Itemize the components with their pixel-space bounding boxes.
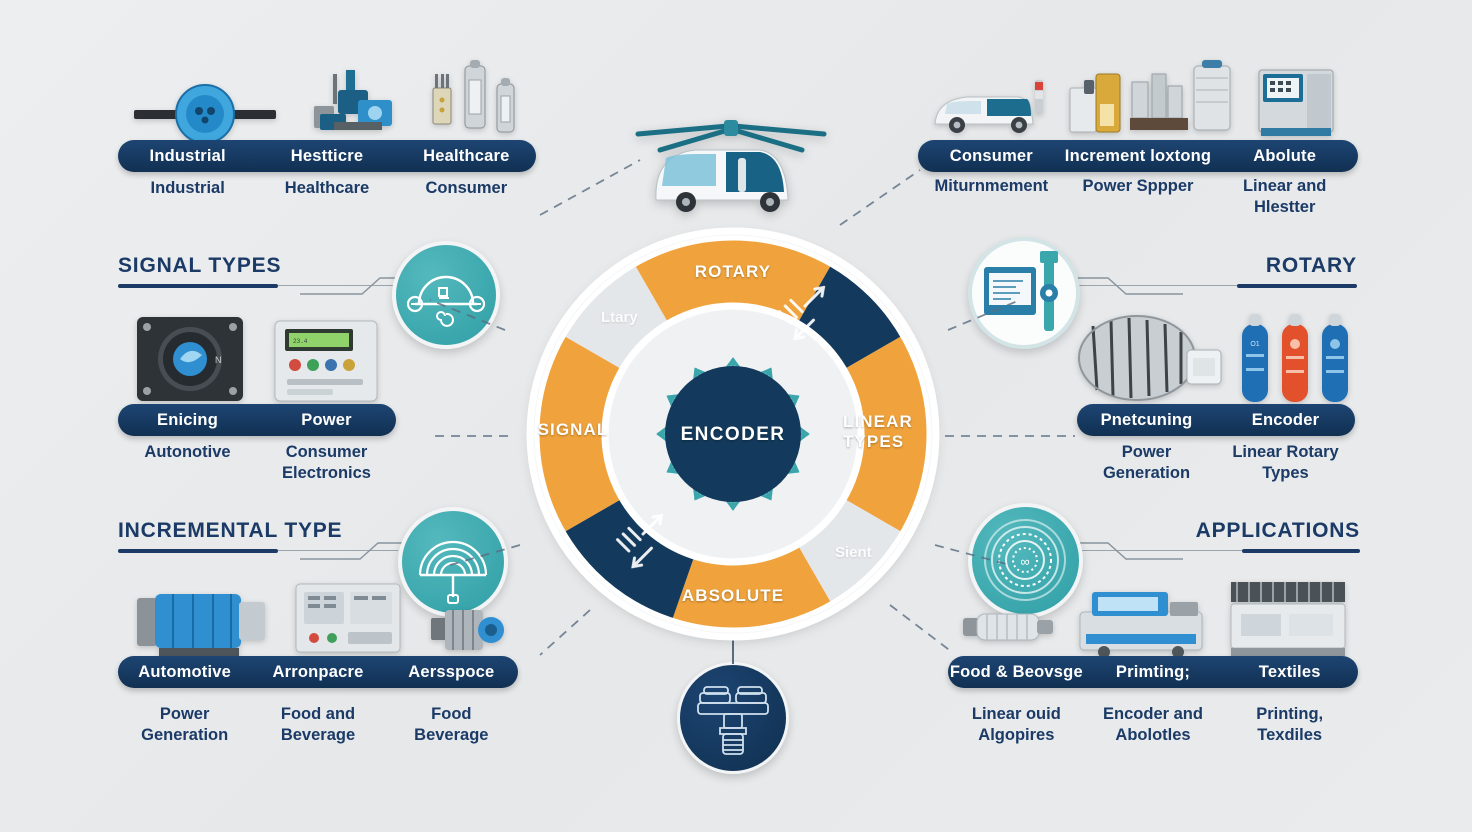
top-left-photo-strip	[120, 52, 535, 144]
pill-label: Power	[257, 411, 396, 430]
pill-label: Pnetcuning	[1077, 411, 1216, 430]
bottom-left-photo-strip	[120, 570, 520, 660]
header-applications: APPLICATIONS	[1196, 519, 1360, 543]
caption: Encoder and Abolotles	[1085, 704, 1222, 747]
bottom-left-captions: Power Generation Food and Beverage Food …	[118, 704, 518, 747]
top-left-pill: Industrial Hestticre Healthcare	[118, 140, 536, 172]
control-cabinet-photo	[1247, 60, 1347, 144]
pill-label: Enicing	[118, 411, 257, 430]
mid-left-captions: Autonotive Consumer Electronics	[118, 442, 396, 485]
mid-right-captions: Power Generation Linear Rotary Types	[1077, 442, 1355, 485]
top-left-captions: Industrial Healthcare Consumer	[118, 178, 536, 199]
bottom-left-pill: Automotive Arronpacre Aersspoce	[118, 656, 518, 688]
svg-text:N: N	[215, 355, 222, 365]
machine-cabinet-photo	[292, 576, 404, 660]
svg-text:23.4: 23.4	[293, 338, 308, 345]
svg-text:∞: ∞	[1020, 554, 1029, 569]
infographic-canvas: Industrial Hestticre Healthcare Industri…	[0, 0, 1472, 832]
industrial-pump-photo	[300, 62, 405, 144]
mid-right-pill: Pnetcuning Encoder	[1077, 404, 1355, 436]
turbine-engine-photo	[1075, 310, 1225, 406]
pill-label: Increment loxtong	[1065, 147, 1212, 166]
pill-label: Food & Beovsge	[948, 663, 1085, 682]
pill-label: Healthcare	[397, 147, 536, 166]
pill-label: Encoder	[1216, 411, 1355, 430]
encoder-sensor-icon	[677, 662, 789, 774]
process-tanks-photo	[1066, 58, 1236, 144]
signal-waveform-icon	[392, 241, 500, 349]
printing-press-photo	[1070, 578, 1210, 660]
bottom-right-pill: Food & Beovsge Primting; Textiles	[948, 656, 1358, 688]
caption: Miturnmement	[918, 176, 1065, 219]
header-rotary: ROTARY	[1266, 254, 1357, 278]
caption: Power Sppper	[1065, 176, 1212, 219]
caption: Consumer Electronics	[257, 442, 396, 485]
pill-label: Aersspoce	[385, 663, 518, 682]
caption: Consumer	[397, 178, 536, 199]
header-label: ROTARY	[1266, 254, 1357, 278]
control-panel-photo: 23.4	[271, 317, 381, 405]
svg-text:O1: O1	[1250, 341, 1259, 348]
applications-connector-line	[1068, 537, 1183, 563]
header-label: SIGNAL TYPES	[118, 254, 281, 278]
rotary-dial-encoder-photo: N	[133, 313, 248, 405]
linear-scale-icon	[968, 237, 1080, 349]
pill-label: Consumer	[918, 147, 1065, 166]
linear-actuator-photo	[957, 590, 1057, 660]
encoder-wheel: ENCODER ROTARY LINEAR TYPES ABSOLUTE SIG…	[513, 214, 953, 654]
textile-machine-photo	[1223, 576, 1353, 660]
top-right-captions: Miturnmement Power Sppper Linear and Hle…	[918, 176, 1358, 219]
caption: Linear ouid Algopires	[948, 704, 1085, 747]
caption: Linear and Hlestter	[1211, 176, 1358, 219]
electric-van-photo	[927, 72, 1055, 144]
pill-label: Primting;	[1085, 663, 1222, 682]
caption: Linear Rotary Types	[1216, 442, 1355, 485]
caption: Food Beverage	[385, 704, 518, 747]
header-signal-types: SIGNAL TYPES	[118, 254, 281, 278]
caption: Autonotive	[118, 442, 257, 485]
blue-cylinder-machine-photo	[131, 582, 271, 660]
caption: Power Generation	[1077, 442, 1216, 485]
pill-label: Hestticre	[257, 147, 396, 166]
wheel-ghost-label: Ltary	[601, 309, 638, 326]
drone-helicopter-van-image	[620, 112, 842, 220]
pill-label: Abolute	[1211, 147, 1358, 166]
mid-left-pill: Enicing Power	[118, 404, 396, 436]
pill-label: Arronpacre	[251, 663, 384, 682]
caption: Power Generation	[118, 704, 251, 747]
caption: Healthcare	[257, 178, 396, 199]
mid-left-photo-strip: N 23.4	[122, 310, 392, 405]
rotary-encoder-photo	[130, 84, 280, 144]
bottom-right-photo-strip	[950, 572, 1360, 660]
small-motor-photo	[425, 600, 509, 660]
top-right-photo-strip	[922, 52, 1352, 144]
header-label: APPLICATIONS	[1196, 519, 1360, 543]
top-right-pill: Consumer Increment loxtong Abolute	[918, 140, 1358, 172]
wheel-ghost-label: Sient	[835, 544, 872, 561]
pill-label: Automotive	[118, 663, 251, 682]
caption: Food and Beverage	[251, 704, 384, 747]
caption: Industrial	[118, 178, 257, 199]
caption: Printing, Texdiles	[1221, 704, 1358, 747]
rotary-connector-line	[1068, 272, 1183, 298]
pill-label: Textiles	[1221, 663, 1358, 682]
pill-label: Industrial	[118, 147, 257, 166]
mid-right-photo-strip: O1	[1072, 308, 1362, 406]
gas-cylinders-photo: O1	[1230, 310, 1360, 406]
sensor-probes-photo	[425, 60, 525, 144]
bottom-right-captions: Linear ouid Algopires Encoder and Abolot…	[948, 704, 1358, 747]
